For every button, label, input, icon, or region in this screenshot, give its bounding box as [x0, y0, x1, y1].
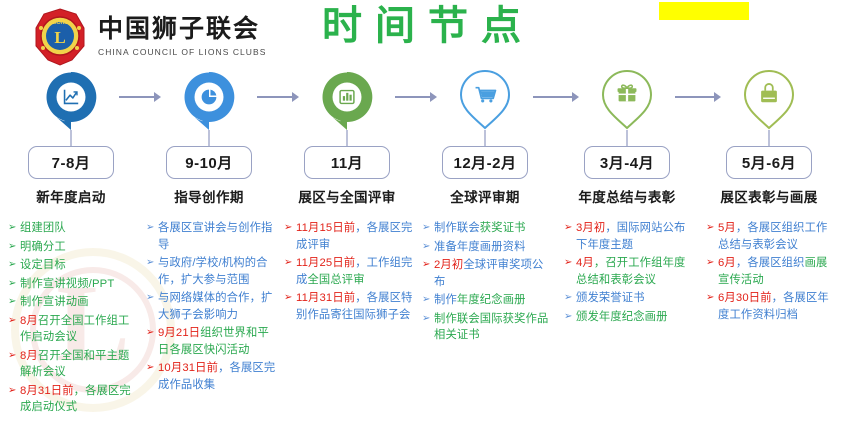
list-item-text: 设定目标 [20, 259, 66, 271]
list-item-text: 各展区宣讲会与创作指导 [158, 222, 272, 251]
list-item: ➢与政府/学校/机构的合作，扩大参与范围 [146, 255, 278, 288]
list-item-text: 6月30日前 [718, 292, 772, 304]
lions-crest-icon: L LIONS [32, 8, 88, 66]
pin-stem [71, 130, 72, 146]
list-item: ➢与网络媒体的合作，扩大狮子会影响力 [146, 290, 278, 323]
timeline-item-list: ➢组建团队➢明确分工➢设定目标➢制作宣讲视频/PPT➢制作宣讲动画➢8月召开全国… [8, 220, 140, 418]
list-item: ➢8月召开全国工作组工作启动会议 [8, 313, 140, 346]
list-item-text: 年度纪念画册 [457, 294, 526, 306]
list-item: ➢11月31日前，各展区特别作品寄往国际狮子会 [284, 290, 416, 323]
timeline-phase-title: 指导创作期 [140, 186, 278, 206]
timeline-period-chip[interactable]: 11月 [304, 146, 390, 179]
pin-stem [347, 130, 348, 146]
timeline-phase-title: 全球评审期 [416, 186, 554, 206]
list-item-text: 8月 [20, 315, 38, 327]
pin-stem [485, 130, 486, 146]
chevron-right-icon: ➢ [8, 239, 17, 256]
list-item: ➢11月15日前，各展区完成评审 [284, 220, 416, 253]
chevron-right-icon: ➢ [146, 255, 155, 272]
timeline-connector-arrow [675, 92, 721, 102]
timeline-phase-title: 展区表彰与画展 [700, 186, 838, 206]
timeline-item-list: ➢3月初，国际网站公布下年度主题➢4月，召开工作组年度总结和表彰会议➢颁发荣誉证… [564, 220, 696, 327]
chevron-right-icon: ➢ [8, 313, 17, 330]
chevron-right-icon: ➢ [706, 290, 715, 307]
list-item-text: 2月初 [434, 259, 463, 271]
list-item-text: 4月 [576, 257, 594, 269]
list-item: ➢制作宣讲动画 [8, 294, 140, 311]
timeline-period-chip[interactable]: 3月-4月 [584, 146, 670, 179]
list-item: ➢8月31日前，各展区完成启动仪式 [8, 383, 140, 416]
chevron-right-icon: ➢ [146, 325, 155, 342]
brand-name-en: CHINA COUNCIL OF LIONS CLUBS [98, 47, 266, 57]
list-item-text: 10月31日前 [158, 362, 218, 374]
chevron-right-icon: ➢ [706, 255, 715, 272]
list-item: ➢8月召开全国和平主题解析会议 [8, 348, 140, 381]
chevron-right-icon: ➢ [564, 290, 573, 307]
timeline-connector-arrow [119, 92, 161, 102]
chevron-right-icon: ➢ [284, 290, 293, 307]
list-item-text: 11月31日前 [296, 292, 355, 304]
list-item: ➢6月30日前，各展区年度工作资料归档 [706, 290, 838, 323]
list-item-text: 全国总评审 [307, 274, 364, 286]
list-item-text: 制作 [434, 294, 457, 306]
svg-text:L: L [54, 28, 65, 47]
list-item-text: 制作联会国际获奖作品相关证书 [434, 313, 548, 342]
list-item: ➢3月初，国际网站公布下年度主题 [564, 220, 696, 253]
brand-lockup: L LIONS 中国狮子联会 CHINA COUNCIL OF LIONS CL… [32, 8, 266, 66]
brand-name-cn: 中国狮子联会 [98, 17, 266, 42]
list-item: ➢颁发年度纪念画册 [564, 309, 696, 326]
list-item: ➢颁发荣誉证书 [564, 290, 696, 307]
chevron-right-icon: ➢ [8, 348, 17, 365]
timeline-item-list: ➢各展区宣讲会与创作指导➢与政府/学校/机构的合作，扩大参与范围➢与网络媒体的合… [146, 220, 278, 395]
list-item-text: 颁发荣誉证书 [576, 292, 645, 304]
list-item: ➢9月21日组织世界和平日各展区快闪活动 [146, 325, 278, 358]
list-item: ➢制作联会获奖证书 [422, 220, 554, 237]
list-item: ➢组建团队 [8, 220, 140, 237]
list-item-text: 组建团队 [20, 222, 66, 234]
chevron-right-icon: ➢ [146, 220, 155, 237]
chevron-right-icon: ➢ [8, 294, 17, 311]
list-item-text: 明确分工 [20, 241, 66, 253]
list-item: ➢准备年度画册资料 [422, 239, 554, 256]
list-item: ➢各展区宣讲会与创作指导 [146, 220, 278, 253]
list-item-text: 获奖证书 [480, 222, 526, 234]
list-item: ➢制作宣讲视频/PPT [8, 276, 140, 293]
chevron-right-icon: ➢ [146, 290, 155, 307]
chevron-right-icon: ➢ [8, 383, 17, 400]
timeline-connector-arrow [533, 92, 579, 102]
list-item-text: ，各展区组织 [736, 257, 805, 269]
timeline-phase-title: 展区与全国评审 [278, 186, 416, 206]
timeline-item-list: ➢5月，各展区组织工作总结与表彰会议➢6月，各展区组织画展宣传活动➢6月30日前… [706, 220, 838, 325]
chevron-right-icon: ➢ [422, 292, 431, 309]
list-item-text: 5月 [718, 222, 736, 234]
chevron-right-icon: ➢ [146, 360, 155, 377]
pin-stem [209, 130, 210, 146]
highlight-box [659, 2, 749, 20]
timeline-connector-arrow [257, 92, 299, 102]
svg-text:LIONS: LIONS [52, 20, 69, 26]
list-item: ➢明确分工 [8, 239, 140, 256]
timeline-period-chip[interactable]: 5月-6月 [726, 146, 812, 179]
list-item-text: 制作宣讲视频/PPT [20, 278, 114, 290]
list-item: ➢6月，各展区组织画展宣传活动 [706, 255, 838, 288]
pin-stem [769, 130, 770, 146]
chevron-right-icon: ➢ [422, 311, 431, 328]
chevron-right-icon: ➢ [564, 255, 573, 272]
list-item-text: 与政府/学校/机构的合作，扩大参与范围 [158, 257, 268, 286]
list-item: ➢设定目标 [8, 257, 140, 274]
list-item: ➢5月，各展区组织工作总结与表彰会议 [706, 220, 838, 253]
list-item-text: 8月31日前 [20, 385, 74, 397]
list-item: ➢10月31日前，各展区完成作品收集 [146, 360, 278, 393]
list-item: ➢11月25日前，工作组完成全国总评审 [284, 255, 416, 288]
list-item-text: 6月 [718, 257, 736, 269]
chevron-right-icon: ➢ [422, 220, 431, 237]
timeline-slide: L L LIONS 中国狮子联会 CHINA COUNCIL OF LIONS … [0, 0, 853, 437]
timeline-item-list: ➢制作联会获奖证书➢准备年度画册资料➢2月初全球评审奖项公布➢制作年度纪念画册➢… [422, 220, 554, 346]
chevron-right-icon: ➢ [564, 220, 573, 237]
list-item-text: 11月25日前 [296, 257, 355, 269]
chevron-right-icon: ➢ [8, 276, 17, 293]
list-item-text: 准备年度画册资料 [434, 241, 526, 253]
timeline-period-chip[interactable]: 7-8月 [28, 146, 114, 179]
list-item: ➢制作联会国际获奖作品相关证书 [422, 311, 554, 344]
chevron-right-icon: ➢ [284, 220, 293, 237]
list-item-text: 颁发年度纪念画册 [576, 311, 668, 323]
list-item: ➢制作年度纪念画册 [422, 292, 554, 309]
list-item: ➢2月初全球评审奖项公布 [422, 257, 554, 290]
list-item-text: 8月 [20, 350, 38, 362]
chevron-right-icon: ➢ [564, 309, 573, 326]
chevron-right-icon: ➢ [284, 255, 293, 272]
list-item-text: 与网络媒体的合作，扩大狮子会影响力 [158, 292, 272, 321]
chevron-right-icon: ➢ [422, 239, 431, 256]
timeline-period-chip[interactable]: 9-10月 [166, 146, 252, 179]
list-item-text: 9月21日 [158, 327, 200, 339]
timeline-phase-title: 年度总结与表彰 [558, 186, 696, 206]
page-title: 时间节点 [322, 6, 534, 46]
chevron-right-icon: ➢ [8, 220, 17, 237]
chevron-right-icon: ➢ [422, 257, 431, 274]
timeline-period-chip[interactable]: 12月-2月 [442, 146, 528, 179]
list-item: ➢4月，召开工作组年度总结和表彰会议 [564, 255, 696, 288]
list-item-text: 11月15日前 [296, 222, 355, 234]
list-item-text: 制作宣讲动画 [20, 296, 89, 308]
chevron-right-icon: ➢ [706, 220, 715, 237]
list-item-text: 3月初 [576, 222, 605, 234]
chevron-right-icon: ➢ [8, 257, 17, 274]
list-item-text: 制作联会 [434, 222, 480, 234]
timeline-connector-arrow [395, 92, 437, 102]
pin-stem [627, 130, 628, 146]
timeline-phase-title: 新年度启动 [2, 186, 140, 206]
timeline-item-list: ➢11月15日前，各展区完成评审➢11月25日前，工作组完成全国总评审➢11月3… [284, 220, 416, 325]
